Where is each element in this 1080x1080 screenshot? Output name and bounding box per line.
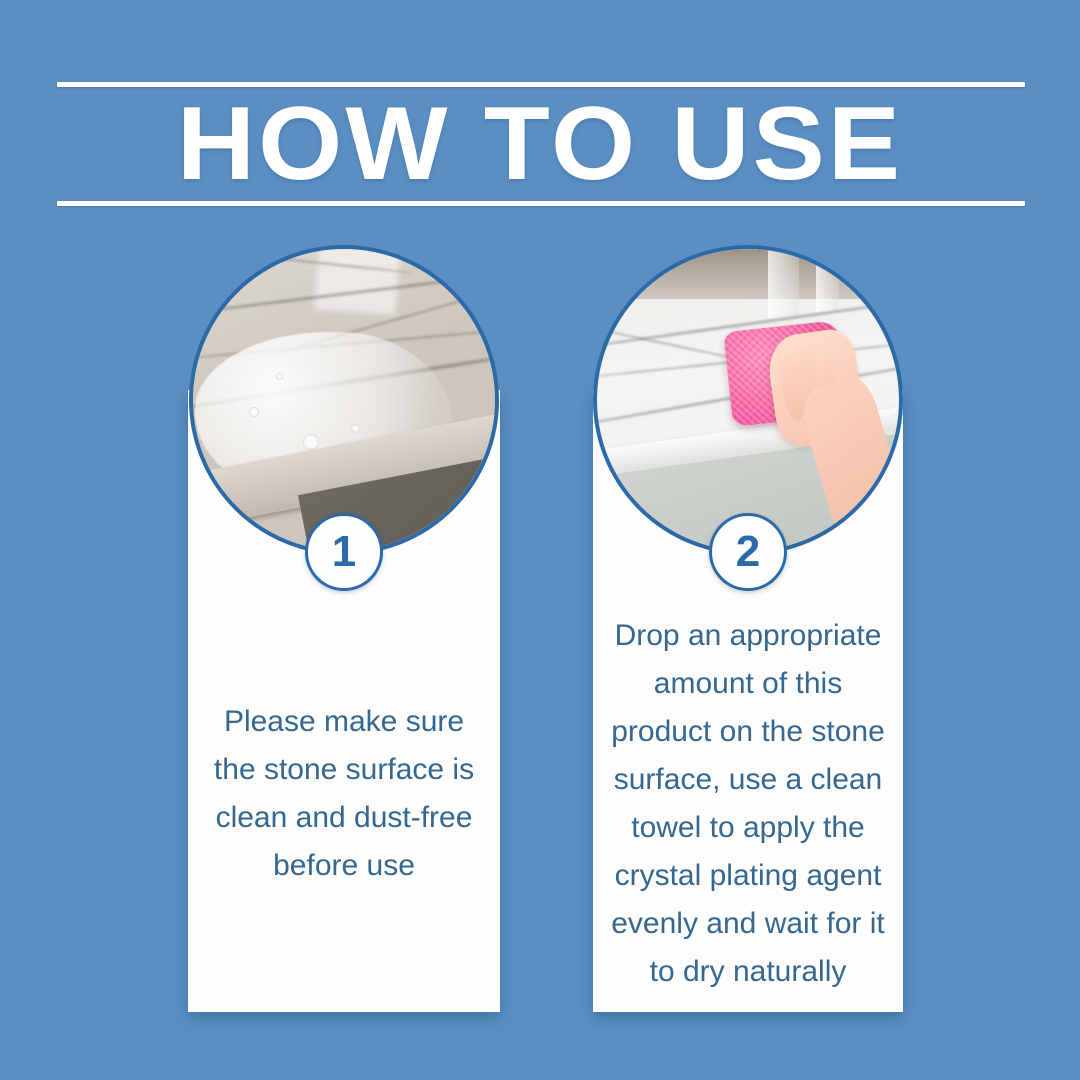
steps-container: 1 Please make sure the stone surface is … bbox=[0, 0, 1080, 1080]
background-pillar bbox=[768, 249, 798, 319]
window-reflection bbox=[314, 249, 400, 315]
step-description: Please make sure the stone surface is cl… bbox=[202, 698, 486, 890]
background-wall bbox=[597, 249, 899, 299]
step-number-badge: 2 bbox=[709, 513, 787, 591]
marble-surface bbox=[597, 249, 899, 551]
marble-surface bbox=[193, 249, 495, 551]
how-to-use-poster: HOW TO USE bbox=[0, 0, 1080, 1080]
hand-wiping-marble-image bbox=[597, 249, 899, 551]
step-photo-1 bbox=[189, 245, 499, 555]
step-item: 1 Please make sure the stone surface is … bbox=[188, 390, 500, 1012]
step-description: Drop an appropriate amount of this produ… bbox=[607, 612, 889, 996]
marble-foam-image bbox=[193, 249, 495, 551]
step-item: 2 Drop an appropriate amount of this pro… bbox=[593, 390, 903, 1012]
step-number-badge: 1 bbox=[305, 513, 383, 591]
foam-bubble bbox=[249, 407, 259, 417]
step-photo-2 bbox=[593, 245, 903, 555]
foam-bubble bbox=[351, 424, 360, 433]
background-pillar bbox=[816, 249, 840, 312]
